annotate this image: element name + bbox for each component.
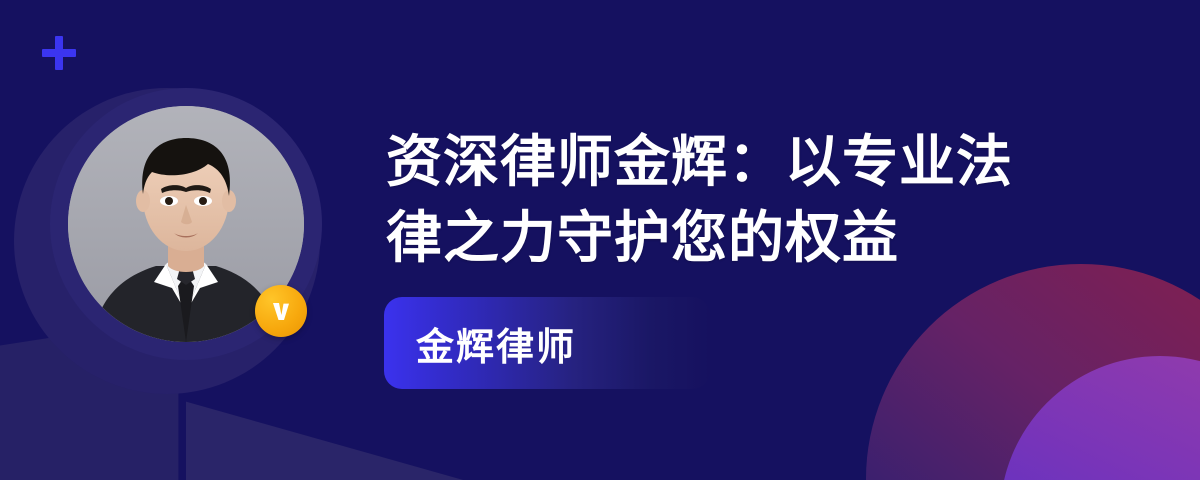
text-content: 资深律师金辉：以专业法 律之力守护您的权益 <box>386 124 1086 276</box>
plus-icon <box>42 36 76 70</box>
gradient-orb-purple <box>1000 356 1200 480</box>
wedge-shape-center <box>186 380 746 480</box>
page-title: 资深律师金辉：以专业法 律之力守护您的权益 <box>386 124 1086 276</box>
gradient-orb-magenta <box>866 264 1200 480</box>
avatar <box>50 88 322 360</box>
verified-badge <box>255 285 307 337</box>
verified-check-icon <box>266 296 296 326</box>
lawyer-promo-banner: 资深律师金辉：以专业法 律之力守护您的权益 金辉律师 <box>0 0 1200 480</box>
lawyer-name-button[interactable]: 金辉律师 <box>384 297 710 389</box>
